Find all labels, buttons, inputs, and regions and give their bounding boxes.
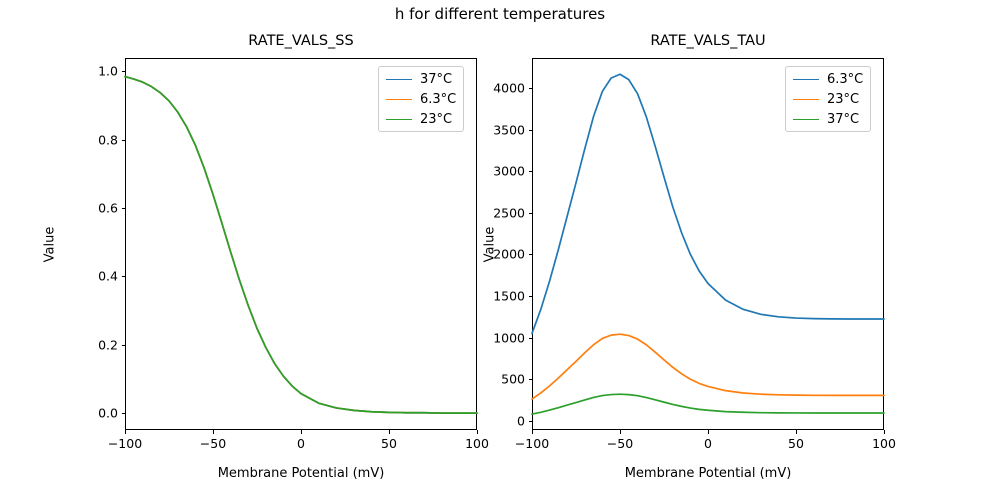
series-line-23C	[532, 334, 884, 399]
legend-color-swatch	[386, 79, 412, 80]
legend-entry[interactable]: 37°C	[793, 112, 863, 126]
ytick-mark	[122, 208, 126, 209]
legend-entry[interactable]: 23°C	[386, 112, 456, 126]
ytick-mark	[122, 345, 126, 346]
legend-right[interactable]: 6.3°C23°C37°C	[785, 66, 871, 132]
xtick-mark	[477, 430, 478, 434]
xtick-label: 0	[297, 436, 305, 451]
ytick-label: 0.4	[63, 269, 118, 284]
legend-entry[interactable]: 37°C	[386, 72, 456, 86]
subplot-title-left: RATE_VALS_SS	[125, 33, 477, 49]
legend-label: 6.3°C	[827, 72, 863, 87]
xtick-mark	[213, 430, 214, 434]
legend-color-swatch	[386, 99, 412, 100]
legend-label: 37°C	[420, 72, 452, 87]
ytick-label: 0.8	[63, 132, 118, 147]
ytick-mark	[122, 413, 126, 414]
legend-label: 37°C	[827, 112, 859, 127]
xtick-label: −50	[607, 436, 633, 451]
xaxis-label-right: Membrane Potential (mV)	[532, 466, 884, 481]
ytick-label: 1.0	[63, 64, 118, 79]
ytick-label: 4000	[470, 80, 525, 95]
ytick-label: 0.0	[63, 406, 118, 421]
xtick-label: −50	[200, 436, 226, 451]
ytick-mark	[529, 296, 533, 297]
legend-color-swatch	[386, 119, 412, 120]
ytick-mark	[529, 254, 533, 255]
ytick-label: 0	[470, 413, 525, 428]
xtick-mark	[301, 430, 302, 434]
xtick-label: −100	[108, 436, 142, 451]
xtick-mark	[125, 430, 126, 434]
yaxis-label-left: Value	[43, 155, 58, 335]
yaxis-label-right: Value	[483, 155, 498, 335]
ytick-label: 500	[470, 372, 525, 387]
legend-entry[interactable]: 6.3°C	[386, 92, 456, 106]
xtick-mark	[796, 430, 797, 434]
xtick-mark	[389, 430, 390, 434]
ytick-mark	[122, 276, 126, 277]
ytick-label: 3500	[470, 122, 525, 137]
series-line-37C	[532, 394, 884, 414]
ytick-mark	[122, 71, 126, 72]
ytick-mark	[529, 88, 533, 89]
ytick-mark	[529, 421, 533, 422]
ytick-mark	[529, 338, 533, 339]
ytick-mark	[529, 171, 533, 172]
xtick-label: 50	[788, 436, 804, 451]
ytick-label: 2000	[470, 247, 525, 262]
ytick-label: 0.2	[63, 337, 118, 352]
ytick-label: 1000	[470, 330, 525, 345]
ytick-label: 2500	[470, 205, 525, 220]
xaxis-label-left: Membrane Potential (mV)	[125, 466, 477, 481]
legend-color-swatch	[793, 79, 819, 80]
subplot-title-right: RATE_VALS_TAU	[532, 33, 884, 49]
xtick-label: 100	[465, 436, 489, 451]
xtick-label: 0	[704, 436, 712, 451]
legend-label: 23°C	[827, 92, 859, 107]
xtick-mark	[532, 430, 533, 434]
xtick-mark	[708, 430, 709, 434]
ytick-label: 0.6	[63, 201, 118, 216]
legend-label: 23°C	[420, 112, 452, 127]
legend-entry[interactable]: 23°C	[793, 92, 863, 106]
xtick-label: −100	[515, 436, 549, 451]
xtick-label: 100	[872, 436, 896, 451]
legend-left[interactable]: 37°C6.3°C23°C	[378, 66, 464, 132]
ytick-mark	[529, 130, 533, 131]
legend-color-swatch	[793, 119, 819, 120]
ytick-mark	[122, 140, 126, 141]
ytick-mark	[529, 379, 533, 380]
ytick-label: 1500	[470, 289, 525, 304]
matplotlib-figure: h for different temperatures RATE_VALS_S…	[0, 0, 1000, 500]
ytick-label: 3000	[470, 164, 525, 179]
xtick-label: 50	[381, 436, 397, 451]
legend-label: 6.3°C	[420, 92, 456, 107]
legend-color-swatch	[793, 99, 819, 100]
xtick-mark	[884, 430, 885, 434]
xtick-mark	[620, 430, 621, 434]
legend-entry[interactable]: 6.3°C	[793, 72, 863, 86]
figure-suptitle: h for different temperatures	[0, 5, 1000, 23]
ytick-mark	[529, 213, 533, 214]
